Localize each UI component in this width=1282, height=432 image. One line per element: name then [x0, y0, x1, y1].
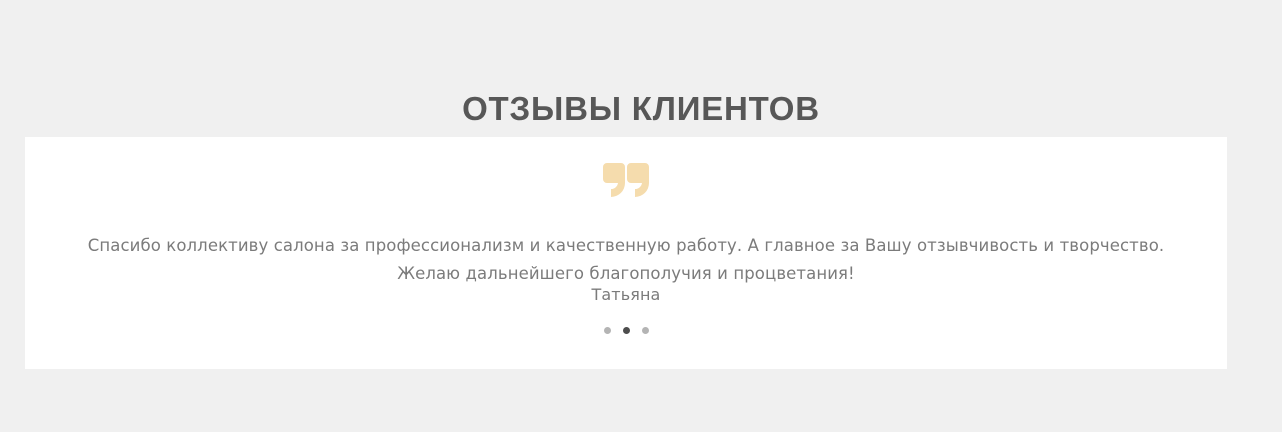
testimonial-author: Татьяна [25, 285, 1227, 304]
closing-double-quote-icon [603, 163, 649, 197]
testimonial-card: Спасибо коллективу салона за профессиона… [25, 137, 1227, 369]
testimonials-section: ОТЗЫВЫ КЛИЕНТОВ Спасибо коллективу салон… [0, 0, 1282, 432]
carousel-pagination[interactable] [25, 327, 1227, 334]
page-title: ОТЗЫВЫ КЛИЕНТОВ [0, 89, 1282, 129]
pagination-dot-2[interactable] [623, 327, 630, 334]
pagination-dot-3[interactable] [642, 327, 649, 334]
quote-icon-wrapper [25, 163, 1227, 207]
testimonial-text: Спасибо коллективу салона за профессиона… [85, 232, 1167, 288]
pagination-dot-1[interactable] [604, 327, 611, 334]
